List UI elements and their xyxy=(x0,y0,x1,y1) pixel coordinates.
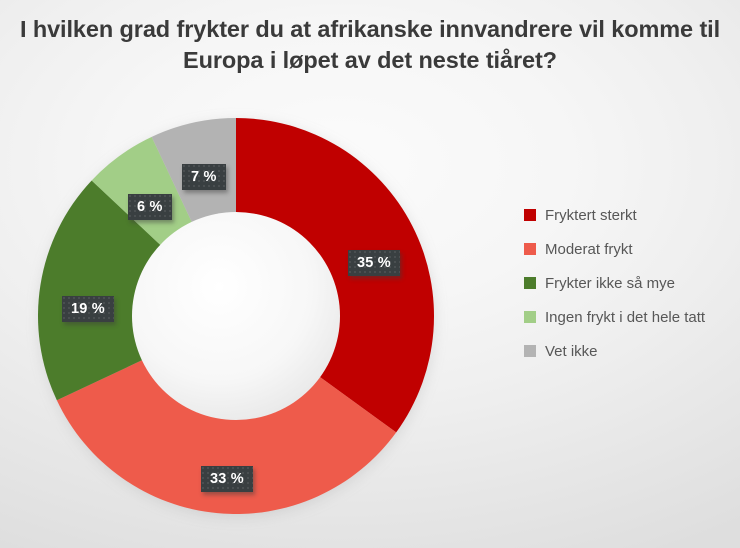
legend-swatch-icon xyxy=(524,277,536,289)
legend-label: Vet ikke xyxy=(545,344,598,359)
chart-legend: Fryktert sterkt Moderat frykt Frykter ik… xyxy=(524,198,705,368)
data-label-vet-ikke: 7 % xyxy=(182,164,226,190)
data-label-ingen-frykt: 6 % xyxy=(128,194,172,220)
legend-swatch-icon xyxy=(524,311,536,323)
chart-title: I hvilken grad frykter du at afrikanske … xyxy=(18,14,722,77)
data-label-fryktert-sterkt: 35 % xyxy=(348,250,400,276)
chart-slide: I hvilken grad frykter du at afrikanske … xyxy=(0,0,740,548)
legend-item-ingen-frykt[interactable]: Ingen frykt i det hele tatt xyxy=(524,300,705,334)
data-label-moderat-frykt: 33 % xyxy=(201,466,253,492)
legend-item-fryktert-sterkt[interactable]: Fryktert sterkt xyxy=(524,198,705,232)
legend-swatch-icon xyxy=(524,243,536,255)
legend-label: Fryktert sterkt xyxy=(545,208,637,223)
donut-chart: 35 % 33 % 19 % 6 % 7 % xyxy=(36,116,436,516)
legend-swatch-icon xyxy=(524,209,536,221)
legend-label: Frykter ikke så mye xyxy=(545,276,675,291)
legend-label: Ingen frykt i det hele tatt xyxy=(545,310,705,325)
data-label-frykter-ikke-saa-mye: 19 % xyxy=(62,296,114,322)
legend-label: Moderat frykt xyxy=(545,242,633,257)
legend-swatch-icon xyxy=(524,345,536,357)
legend-item-frykter-ikke-saa-mye[interactable]: Frykter ikke så mye xyxy=(524,266,705,300)
donut-hole xyxy=(132,212,340,420)
legend-item-vet-ikke[interactable]: Vet ikke xyxy=(524,334,705,368)
chart-plot-area: 35 % 33 % 19 % 6 % 7 % xyxy=(0,96,500,548)
legend-item-moderat-frykt[interactable]: Moderat frykt xyxy=(524,232,705,266)
